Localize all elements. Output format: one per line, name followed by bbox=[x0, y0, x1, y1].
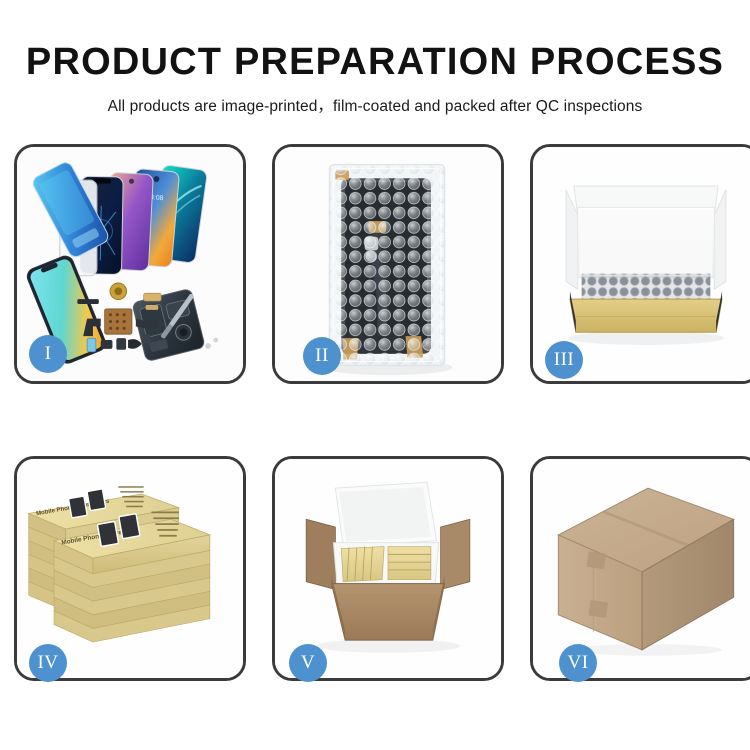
sealed-carton-illustration bbox=[533, 459, 750, 678]
step-badge-5: V bbox=[289, 644, 327, 682]
process-step-6[interactable]: VI bbox=[530, 456, 750, 681]
step-badge-6: VI bbox=[559, 644, 597, 682]
process-step-1[interactable]: 18:08 bbox=[14, 144, 246, 384]
sealed-shipping-carton-photo bbox=[533, 459, 750, 678]
step-badge-2: II bbox=[303, 337, 341, 375]
process-step-2[interactable]: II bbox=[272, 144, 504, 384]
page-title: PRODUCT PREPARATION PROCESS bbox=[0, 0, 750, 82]
process-steps-grid: 18:08 bbox=[14, 144, 736, 681]
process-step-4[interactable]: Mobile Phone Spare Parts bbox=[14, 456, 246, 681]
step-badge-1: I bbox=[29, 335, 67, 373]
step-badge-3: III bbox=[545, 341, 583, 379]
header: PRODUCT PREPARATION PROCESS All products… bbox=[0, 0, 750, 116]
product-preparation-infographic: PRODUCT PREPARATION PROCESS All products… bbox=[0, 0, 750, 750]
process-step-5[interactable]: V bbox=[272, 456, 504, 681]
step-badge-4: IV bbox=[29, 644, 67, 682]
page-subtitle: All products are image-printed，film-coat… bbox=[0, 82, 750, 116]
process-step-3[interactable]: III bbox=[530, 144, 750, 384]
